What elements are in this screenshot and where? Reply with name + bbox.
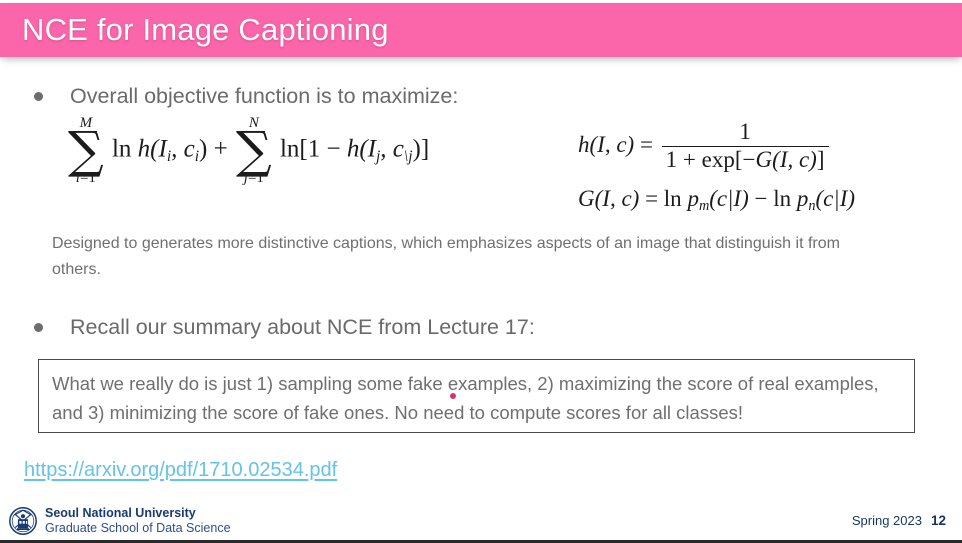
slide-title-banner: NCE for Image Captioning [0,3,962,57]
sum-2-lower-limit: j=1 [244,171,264,186]
formula-h-definition: h(I, c) = 1 1 + exp[−G(I, c)] [578,120,832,173]
h-equals: = [640,132,653,157]
g-pn-sub: n [808,198,815,214]
formula-objective-function: M ∑ i=1 ln h(Ii, ci) + N ∑ j=1 ln[1 − h(… [66,116,429,186]
footer-branding: Seoul National University Graduate Schoo… [8,506,231,537]
bullet-label-objective: Overall objective function is to maximiz… [70,82,458,110]
footer-school-name: Graduate School of Data Science [45,521,231,536]
summary-quote-box: What we really do is just 1) sampling so… [38,359,915,433]
slide-canvas: NCE for Image Captioning Overall objecti… [0,0,962,543]
minus-operator: − [326,136,340,163]
term-2-close: ) [413,136,421,163]
footer-university-name: Seoul National University [45,506,231,521]
bracket-close: ] [421,136,429,163]
ln-1: ln [112,136,131,163]
summation-2: N ∑ j=1 [236,116,272,186]
footer-name-block: Seoul National University Graduate Schoo… [45,506,231,537]
page-title: NCE for Image Captioning [22,12,389,48]
h-lhs-fn: h [578,132,590,157]
g-pm-sub: m [699,198,709,214]
snu-logo-icon [8,506,38,536]
bracket-open: [ [299,136,307,163]
summary-quote-text: What we really do is just 1) sampling so… [52,369,904,427]
ln-2: ln [280,136,299,163]
bullet-item-recall: Recall our summary about NCE from Lectur… [34,313,535,341]
g-lhs-fn: G [578,186,595,211]
sigma-1-icon: ∑ [68,129,104,172]
paper-link[interactable]: https://arxiv.org/pdf/1710.02534.pdf [24,459,337,482]
g-pm: p [687,186,699,211]
footer-term-label: Spring 2023 [852,513,922,528]
g-ln-2: ln [773,186,791,211]
one-literal: 1 [308,136,321,163]
summation-1: M ∑ i=1 [68,116,104,186]
g-pn-args: (c|I) [816,186,856,211]
h-denominator: 1 + exp[−G(I, c)] [662,147,829,173]
plus-operator: + [214,136,228,163]
h-fraction: 1 1 + exp[−G(I, c)] [662,120,829,173]
g-equals: = [645,186,658,211]
term-2-mid: , c [380,136,404,163]
h-numerator: 1 [735,120,755,146]
bullet-dot-icon [34,323,43,332]
bullet-label-recall: Recall our summary about NCE from Lectur… [70,313,535,341]
description-text: Designed to generates more distinctive c… [52,231,852,283]
g-minus: − [755,186,768,211]
term-1-mid: , c [171,136,195,163]
laser-pointer-dot [450,393,456,399]
formula-g-definition: G(I, c) = ln pm(c|I) − ln pn(c|I) [578,186,855,215]
g-ln-1: ln [664,186,682,211]
footer-meta: Spring 2023 12 [852,513,946,528]
g-pm-args: (c|I) [709,186,749,211]
sum-1-lower-limit: i=1 [76,171,96,186]
sigma-2-icon: ∑ [236,129,272,172]
h-lhs-args: (I, c) [590,132,635,157]
g-pn: p [797,186,809,211]
term-1-head: h(I [138,136,167,163]
g-lhs-args: (I, c) [595,186,640,211]
term-1-close: ) [199,136,207,163]
bullet-item-objective: Overall objective function is to maximiz… [34,82,458,110]
term-2-sub-notj: \j [404,148,413,165]
term-2-head: h(I [347,136,376,163]
bullet-dot-icon [34,92,43,101]
footer-page-number: 12 [931,513,946,528]
